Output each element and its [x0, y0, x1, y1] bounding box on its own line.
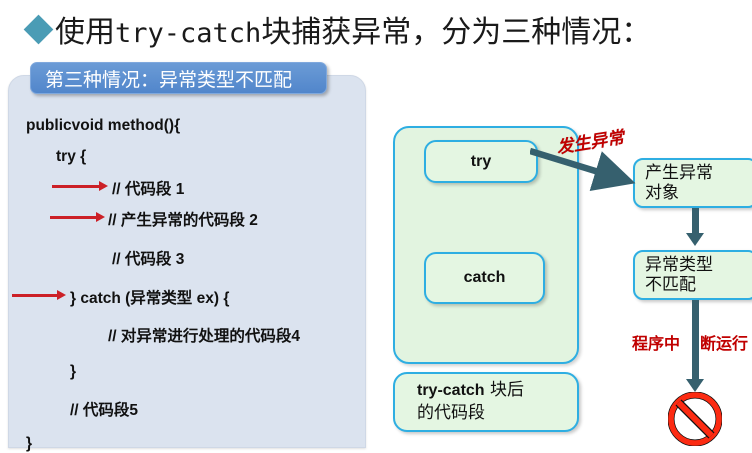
flow-arrow-shaft	[692, 300, 699, 380]
generate-exception-line1: 产生异常	[645, 163, 713, 183]
code-line-text: // 代码段 3	[112, 251, 184, 268]
catch-block-label: catch	[464, 269, 506, 287]
program-halt-label-part1: 程序中	[632, 330, 680, 354]
slide-canvas: 使用try-catch块捕获异常，分为三种情况： 第三种情况：异常类型不匹配 p…	[0, 0, 752, 448]
page-title: 使用try-catch块捕获异常，分为三种情况：	[28, 8, 651, 50]
code-line-text: publicvoid method(){	[26, 117, 180, 134]
mismatch-line2: 不匹配	[645, 275, 696, 295]
after-keyword: try-catch	[417, 382, 485, 399]
code-line: }	[70, 363, 76, 381]
red-arrow-icon	[52, 181, 108, 191]
code-line: // 对异常进行处理的代码段4	[108, 324, 300, 346]
code-listing: publicvoid method(){ try { // 代码段 1 // 产…	[8, 75, 366, 448]
title-text: 使用try-catch块捕获异常，分为三种情况：	[55, 7, 651, 51]
prohibition-sign-icon	[668, 392, 722, 446]
code-line-text: try {	[56, 148, 86, 165]
code-line-text: }	[26, 435, 32, 452]
code-line: // 代码段 3	[112, 247, 184, 269]
code-line: }	[26, 435, 32, 453]
code-line-text: }	[70, 363, 76, 380]
flow-arrow-shaft	[692, 208, 699, 234]
code-line: // 代码段5	[70, 398, 138, 420]
code-line-text: // 代码段 1	[112, 181, 184, 198]
title-keyword: try-catch	[115, 18, 261, 49]
code-line: // 产生异常的代码段 2	[108, 208, 258, 230]
code-line-text: } catch (异常类型 ex) {	[70, 290, 229, 307]
status-badge: 第三种情况：异常类型不匹配	[30, 62, 327, 94]
try-block-label: try	[471, 153, 491, 171]
try-block-node[interactable]: try	[424, 140, 538, 183]
flow-arrow-head-icon	[686, 379, 704, 392]
catch-block-node[interactable]: catch	[424, 252, 545, 304]
after-try-catch-node[interactable]: try-catch 块后 的代码段	[393, 372, 579, 432]
code-line: publicvoid method(){	[26, 117, 180, 135]
code-line-text: // 对异常进行处理的代码段4	[108, 328, 300, 345]
program-halt-label-part2: 断运行	[700, 330, 748, 354]
after-try-catch-label-line1: try-catch 块后	[417, 379, 524, 402]
generate-exception-line2: 对象	[645, 183, 679, 203]
title-prefix: 使用	[55, 15, 115, 50]
red-arrow-icon	[12, 290, 66, 300]
exception-type-mismatch-node[interactable]: 异常类型 不匹配	[633, 250, 752, 300]
after-suffix: 块后	[485, 380, 524, 400]
diamond-bullet-icon	[24, 14, 54, 44]
code-line: // 代码段 1	[112, 177, 184, 199]
flow-arrow-head-icon	[686, 233, 704, 246]
after-try-catch-label-line2: 的代码段	[417, 402, 485, 425]
title-suffix: 块捕获异常，分为三种情况：	[261, 15, 651, 50]
code-line-text: // 产生异常的代码段 2	[108, 212, 258, 229]
code-line-text: // 代码段5	[70, 402, 138, 419]
generate-exception-node[interactable]: 产生异常 对象	[633, 158, 752, 208]
mismatch-line1: 异常类型	[645, 255, 713, 275]
red-arrow-icon	[50, 212, 105, 222]
code-line: } catch (异常类型 ex) {	[70, 286, 229, 308]
code-line: try {	[56, 148, 86, 166]
